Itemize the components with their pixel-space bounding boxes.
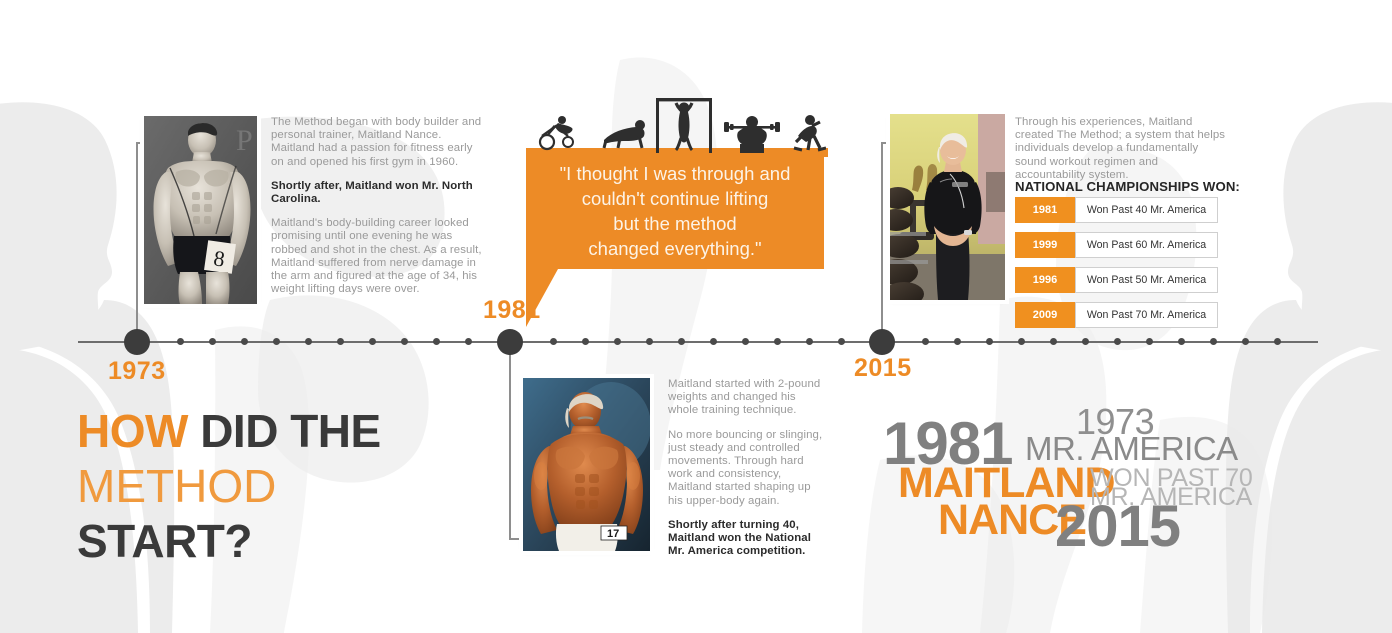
timeline-tick-dot [273, 338, 280, 345]
quote-line-4: changed everything." [588, 238, 761, 259]
championship-row-2[interactable]: 1999 Won Past 60 Mr. America [1015, 232, 1218, 258]
center-paragraph-2: No more bouncing or slinging, just stead… [668, 429, 828, 508]
bench-press-icon [724, 116, 780, 153]
timeline-node-1973[interactable] [124, 329, 150, 355]
quote-bubble: "I thought I was through and couldn't co… [526, 153, 824, 269]
page-headline: HOW DID THE METHOD START? [77, 404, 381, 569]
timeline-tick-dot [986, 338, 993, 345]
timeline-tick-dot [465, 338, 472, 345]
timeline-tick-dot [1050, 338, 1057, 345]
quote-line-2: couldn't continue lifting [582, 188, 769, 209]
timeline-tick-dot [337, 338, 344, 345]
center-story-text: Maitland started with 2-pound weights an… [668, 378, 828, 558]
timeline-tick-dot [1018, 338, 1025, 345]
timeline-tick-dot [241, 338, 248, 345]
timeline-tick-dot [305, 338, 312, 345]
left-paragraph-3: Maitland's body-building career looked p… [271, 217, 483, 296]
championship-row-4[interactable]: 2009 Won Past 70 Mr. America [1015, 302, 1218, 328]
photo-maitland-in-gym[interactable] [890, 114, 1005, 300]
headline-word-did-the: DID THE [200, 405, 381, 457]
pullup-bar-icon [656, 98, 712, 154]
left-paragraph-1: The Method began with body builder and p… [271, 116, 483, 169]
infographic-canvas: 1973 1981 2015 P [0, 0, 1392, 633]
connector-2015-vertical [881, 142, 883, 342]
quote-line-3: but the method [613, 213, 736, 234]
timeline-tick-dot [550, 338, 557, 345]
timeline-tick-dot [177, 338, 184, 345]
photo-vintage-bodybuilder[interactable]: P 8 [144, 116, 257, 304]
right-paragraph-1: Through his experiences, Maitland create… [1015, 116, 1227, 182]
championship-year-4: 2009 [1015, 302, 1075, 328]
headline-word-start: START? [77, 514, 381, 569]
timeline-tick-dot [710, 338, 717, 345]
timeline-tick-dot [1082, 338, 1089, 345]
cloud-word-1973: 1973 [1076, 404, 1154, 440]
timeline-tick-dot [582, 338, 589, 345]
timeline-tick-dot [614, 338, 621, 345]
championship-label-4: Won Past 70 Mr. America [1075, 302, 1218, 328]
championship-year-1: 1981 [1015, 197, 1075, 223]
quote-line-1: "I thought I was through and [560, 163, 791, 184]
timeline-tick-dot [774, 338, 781, 345]
timeline-tick-dot [742, 338, 749, 345]
quote-text: "I thought I was through and couldn't co… [538, 161, 813, 261]
timeline-tick-dot [209, 338, 216, 345]
word-cloud: 1981 MR. AMERICA 1973 MAITLAND NANCE WON… [882, 404, 1212, 564]
headline-line-1: HOW DID THE [77, 404, 381, 459]
championship-row-1[interactable]: 1981 Won Past 40 Mr. America [1015, 197, 1218, 223]
left-paragraph-2: Shortly after, Maitland won Mr. North Ca… [271, 180, 483, 206]
timeline-tick-dot [646, 338, 653, 345]
timeline-node-1981[interactable] [497, 329, 523, 355]
timeline-tick-dot [1210, 338, 1217, 345]
timeline-tick-dot [1274, 338, 1281, 345]
svg-text:P: P [236, 124, 253, 157]
running-icon [794, 115, 826, 150]
timeline-tick-dot [678, 338, 685, 345]
championship-row-3[interactable]: 1996 Won Past 50 Mr. America [1015, 267, 1218, 293]
headline-word-how: HOW [77, 405, 188, 457]
center-paragraph-3: Shortly after turning 40, Maitland won t… [668, 519, 828, 559]
timeline-tick-dot [1146, 338, 1153, 345]
timeline-tick-dot [401, 338, 408, 345]
timeline-tick-dot [1178, 338, 1185, 345]
championship-label-3: Won Past 50 Mr. America [1075, 267, 1218, 293]
championship-year-3: 1996 [1015, 267, 1075, 293]
left-story-text: The Method began with body builder and p… [271, 116, 483, 296]
championship-label-2: Won Past 60 Mr. America [1075, 232, 1218, 258]
championship-label-1: Won Past 40 Mr. America [1075, 197, 1218, 223]
svg-text:17: 17 [607, 528, 619, 540]
right-story-text: Through his experiences, Maitland create… [1015, 116, 1227, 182]
timeline-axis [78, 341, 1318, 343]
center-paragraph-1: Maitland started with 2-pound weights an… [668, 378, 828, 418]
timeline-tick-dot [838, 338, 845, 345]
timeline-tick-dot [369, 338, 376, 345]
timeline-node-2015[interactable] [869, 329, 895, 355]
headline-word-method: METHOD [77, 459, 381, 514]
pushup-icon [604, 120, 645, 148]
connector-1981-vertical [509, 341, 511, 540]
photo-maitland-competition[interactable]: 17 [523, 378, 650, 551]
quote-bubble-tail [526, 269, 558, 327]
timeline-year-label-1973: 1973 [108, 357, 166, 386]
cloud-word-2015: 2015 [1055, 498, 1180, 556]
timeline-tick-dot [433, 338, 440, 345]
timeline-year-label-2015: 2015 [854, 354, 912, 383]
timeline-tick-dot [954, 338, 961, 345]
cycling-icon [540, 116, 573, 149]
championship-year-2: 1999 [1015, 232, 1075, 258]
championships-title: NATIONAL CHAMPIONSHIPS WON: [1015, 179, 1240, 194]
fitness-icons-strip [536, 92, 826, 154]
connector-1973-vertical [136, 142, 138, 342]
timeline-tick-dot [1114, 338, 1121, 345]
timeline-tick-dot [1242, 338, 1249, 345]
timeline-tick-dot [806, 338, 813, 345]
timeline-tick-dot [922, 338, 929, 345]
